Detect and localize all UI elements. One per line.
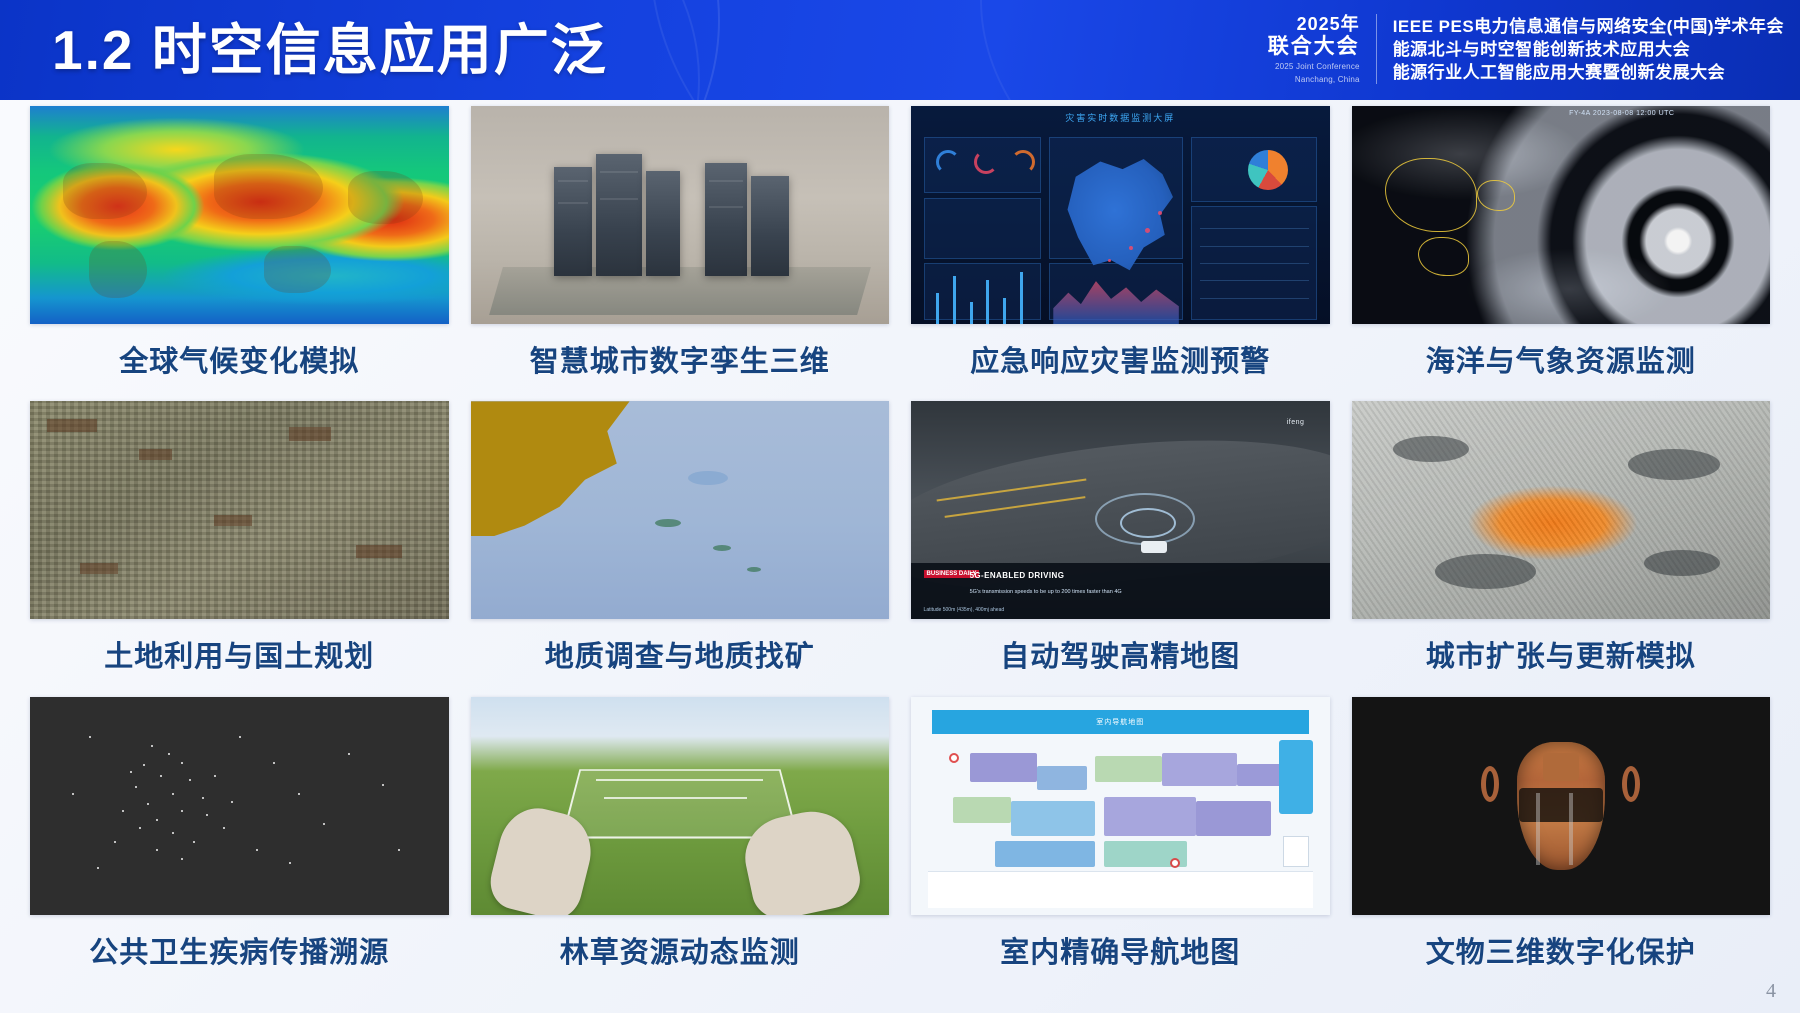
slide-root: 1.2 时空信息应用广泛 2025年 联合大会 2025 Joint Confe… [0,0,1800,1013]
caption-label: 公共卫生疾病传播溯源 [89,929,389,971]
caption-label: 自动驾驶高精地图 [1000,633,1240,675]
thumbnail-indoor-precise-navigation-map[interactable]: 室内导航地图 [911,697,1330,915]
caption-label: 应急响应灾害监测预警 [970,338,1270,380]
thumbnail-ocean-meteorology-satellite[interactable]: FY-4A 2023-08-08 12:00 UTC [1352,106,1771,324]
indoor-map-zoom-control[interactable] [1283,836,1308,867]
grid-item: 灾害实时数据监测大屏 [911,106,1330,395]
amphora-decorative-band [1519,788,1603,822]
grid-item: 全球气候变化模拟 [30,106,449,395]
thumbnail-forest-grassland-ar-monitoring[interactable] [471,697,890,915]
indoor-map-topbar: 室内导航地图 [932,710,1309,734]
thumbnail-emergency-disaster-monitoring-dashboard[interactable]: 灾害实时数据监测大屏 [911,106,1330,324]
conference-year: 2025年 [1268,14,1360,35]
conference-name-cn: 联合大会 [1268,35,1360,59]
amphora-handle-right [1622,766,1640,802]
conference-title-line-2: 能源北斗与时空智能创新技术应用大会 [1393,38,1784,61]
news-ticker: Latitude 500m (435m), 400mj ahead [924,607,1005,613]
dashboard-title: 灾害实时数据监测大屏 [911,111,1330,124]
grid-item: 城市扩张与更新模拟 [1352,401,1771,690]
thumbnail-urban-expansion-simulation[interactable] [1352,401,1771,619]
thumbnail-cultural-relic-3d-digitization[interactable] [1352,697,1771,915]
caption-label: 地质调查与地质找矿 [545,633,815,675]
conference-name-en-1: 2025 Joint Conference [1268,62,1360,72]
conference-brand: 2025年 联合大会 2025 Joint Conference Nanchan… [1268,10,1784,88]
satellite-timestamp-label: FY-4A 2023-08-08 12:00 UTC [1569,110,1674,117]
caption-label: 文物三维数字化保护 [1426,929,1696,971]
thumbnail-global-climate-change-simulation[interactable] [30,106,449,324]
grid-item: 土地利用与国土规划 [30,401,449,690]
thumbnail-smart-city-digital-twin-3d[interactable] [471,106,890,324]
grid-item: 公共卫生疾病传播溯源 [30,697,449,986]
thumbnail-land-use-planning-imagery[interactable] [30,401,449,619]
caption-label: 室内精确导航地图 [1000,929,1240,971]
grid-item: ifeng BUSINESS DAILY 5G-ENABLED DRIVING … [911,401,1330,690]
thumbnail-autonomous-driving-hd-map[interactable]: ifeng BUSINESS DAILY 5G-ENABLED DRIVING … [911,401,1330,619]
page-title: 1.2 时空信息应用广泛 [52,8,608,92]
indoor-map-footer [928,871,1313,908]
caption-label: 智慧城市数字孪生三维 [530,338,830,380]
indoor-map-side-toolbar[interactable] [1279,740,1312,814]
dashboard-pie-chart [1248,150,1288,190]
conference-titles: IEEE PES电力信息通信与网络安全(中国)学术年会 能源北斗与时空智能创新技… [1393,15,1784,84]
application-grid: 全球气候变化模拟 智慧城市数字孪生三维 灾害实时数 [30,106,1770,986]
map-marker-icon[interactable] [949,753,959,763]
conference-title-line-3: 能源行业人工智能应用大赛暨创新发展大会 [1393,61,1784,84]
geology-landmass [471,401,630,536]
caption-label: 城市扩张与更新模拟 [1426,633,1696,675]
conference-logo: 2025年 联合大会 2025 Joint Conference Nanchan… [1268,14,1377,84]
grid-item: 林草资源动态监测 [471,697,890,986]
caption-label: 土地利用与国土规划 [104,633,374,675]
page-number: 4 [1766,980,1776,1003]
city-ground-plane [489,267,871,315]
indoor-map-topbar-label: 室内导航地图 [932,710,1309,734]
conference-title-line-1: IEEE PES电力信息通信与网络安全(中国)学术年会 [1393,15,1784,38]
grid-item: 文物三维数字化保护 [1352,697,1771,986]
news-headline: 5G-ENABLED DRIVING [970,571,1065,580]
amphora-handle-left [1481,766,1499,802]
grid-item: 室内导航地图 室内精确导航地图 [911,697,1330,986]
slide-header: 1.2 时空信息应用广泛 2025年 联合大会 2025 Joint Confe… [0,0,1800,100]
caption-label: 林草资源动态监测 [560,929,800,971]
grid-item: 地质调查与地质找矿 [471,401,890,690]
amphora-neck [1543,753,1579,781]
grid-item: FY-4A 2023-08-08 12:00 UTC 海洋与气象资源监测 [1352,106,1771,395]
vehicle-marker [1141,541,1167,553]
grid-item: 智慧城市数字孪生三维 [471,106,890,395]
caption-label: 海洋与气象资源监测 [1426,338,1696,380]
thumbnail-public-health-disease-point-cloud[interactable] [30,697,449,915]
news-subheadline: 5G's transmission speeds to be up to 200… [970,589,1122,595]
thumbnail-geological-survey-map[interactable] [471,401,890,619]
conference-name-en-2: Nanchang, China [1268,75,1360,85]
caption-label: 全球气候变化模拟 [119,338,359,380]
channel-logo: ifeng [1287,419,1305,426]
